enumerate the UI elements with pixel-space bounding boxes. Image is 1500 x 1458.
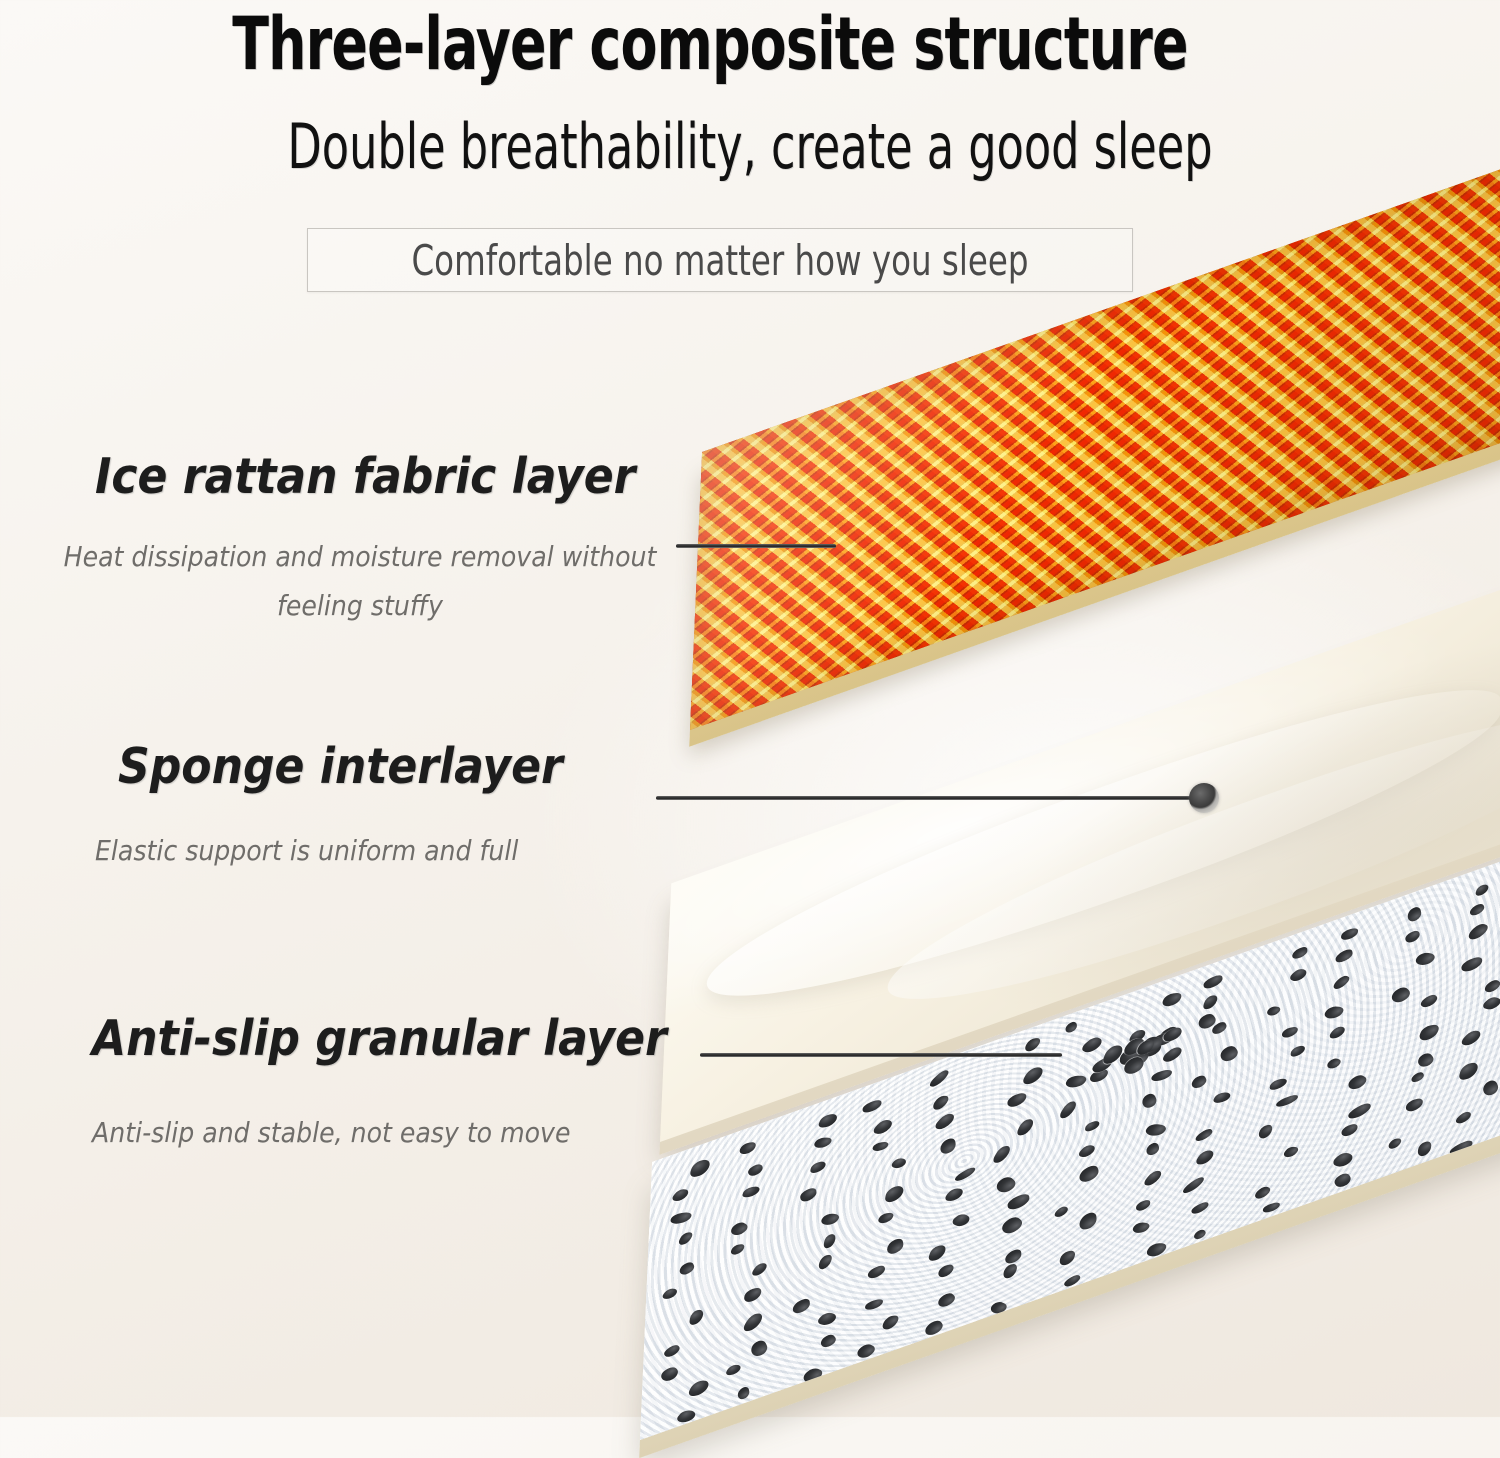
granule — [1468, 902, 1486, 918]
granule — [1008, 1091, 1027, 1109]
granule — [689, 1158, 712, 1178]
granule — [1389, 985, 1413, 1005]
granule — [1264, 1005, 1283, 1016]
granule — [1064, 1020, 1077, 1034]
granule — [738, 1141, 757, 1156]
exploded-layer-diagram — [0, 0, 1500, 1417]
granule — [800, 1186, 818, 1204]
leader-line-anti-slip-granular — [700, 1053, 1062, 1057]
layer-description-ice-rattan-fabric: Heat dissipation and moisture removal wi… — [60, 532, 660, 630]
granule — [1340, 926, 1359, 941]
granule — [1410, 1070, 1426, 1084]
granule — [816, 1254, 833, 1271]
granule — [1020, 1067, 1046, 1084]
granule — [954, 1166, 977, 1184]
granule — [1269, 1077, 1287, 1091]
layer-title-ice-rattan-fabric: Ice rattan fabric layer — [95, 448, 635, 505]
granule — [1079, 1211, 1097, 1233]
granule — [1135, 1199, 1149, 1213]
granule — [1290, 1045, 1305, 1059]
granule — [933, 1113, 959, 1131]
granule — [942, 1188, 965, 1201]
granule — [677, 1232, 695, 1245]
granule — [871, 1119, 896, 1136]
granule — [1281, 1025, 1299, 1038]
granule — [936, 1264, 955, 1279]
granule — [1405, 929, 1421, 945]
granule — [689, 1308, 705, 1326]
granule — [1002, 1262, 1018, 1279]
granule — [1412, 952, 1438, 967]
granule — [1347, 1101, 1373, 1121]
granule — [1417, 1140, 1432, 1158]
granule — [1076, 1144, 1098, 1158]
granule — [792, 1297, 810, 1316]
granule — [668, 1212, 693, 1226]
granule — [871, 1142, 890, 1152]
granule — [678, 1261, 696, 1277]
tagline-text: Comfortable no matter how you sleep — [366, 229, 1075, 291]
granule — [1475, 883, 1490, 896]
leader-line-sponge-interlayer — [656, 796, 1202, 800]
granule — [993, 1174, 1019, 1195]
granule — [1252, 1185, 1273, 1200]
granule — [1007, 1191, 1030, 1212]
granule — [741, 1313, 765, 1331]
granule — [1142, 1123, 1168, 1136]
granule — [927, 1244, 947, 1262]
granule — [1211, 1092, 1232, 1103]
granule — [1181, 1175, 1207, 1195]
granule — [1058, 1101, 1079, 1118]
granule — [1077, 1164, 1099, 1186]
granule — [750, 1263, 769, 1275]
granule — [1332, 1171, 1353, 1189]
layer-description-sponge-interlayer: Elastic support is uniform and full — [60, 826, 655, 875]
granule — [867, 1264, 886, 1281]
granule — [1145, 1141, 1160, 1157]
granule — [1193, 1127, 1213, 1143]
tagline-box: Comfortable no matter how you sleep — [307, 228, 1133, 292]
granule — [1459, 1029, 1484, 1046]
granule — [999, 1215, 1025, 1236]
granule — [863, 1098, 882, 1115]
granule — [1140, 1092, 1158, 1110]
layer-description-anti-slip-granular: Anti-slip and stable, not easy to move — [60, 1108, 712, 1157]
granule — [865, 1298, 885, 1312]
granule — [876, 1212, 895, 1224]
page-subtitle: Double breathability, create a good slee… — [150, 110, 1350, 183]
granule — [1328, 1026, 1348, 1038]
granule — [927, 1069, 951, 1088]
granule — [1258, 1123, 1273, 1140]
granule — [1341, 1122, 1357, 1138]
granule — [1405, 1097, 1424, 1113]
granule — [1416, 1051, 1437, 1069]
granule — [1151, 1068, 1173, 1083]
granule — [1085, 1120, 1100, 1133]
layer-title-anti-slip-granular: Anti-slip granular layer — [92, 1010, 667, 1067]
granule — [1282, 1146, 1301, 1157]
granule — [747, 1162, 764, 1178]
granule — [730, 1243, 747, 1255]
granule — [886, 1236, 904, 1256]
granule — [939, 1136, 956, 1156]
granule — [748, 1338, 768, 1358]
granule — [1190, 1074, 1208, 1091]
granule — [737, 1385, 751, 1401]
granule — [741, 1185, 761, 1198]
granule — [1331, 1151, 1357, 1168]
granule — [936, 1291, 958, 1309]
granule — [931, 1096, 951, 1110]
granule — [1453, 1110, 1474, 1125]
granule — [1053, 1205, 1071, 1217]
granule — [1217, 1044, 1240, 1064]
granule — [819, 1333, 838, 1350]
granule — [1194, 1150, 1217, 1164]
granule — [663, 1343, 682, 1359]
granule — [1276, 1093, 1298, 1109]
granule — [1330, 975, 1352, 991]
granule — [816, 1113, 838, 1128]
granule — [1344, 1073, 1369, 1091]
granule — [670, 1189, 692, 1202]
granule — [1386, 1138, 1403, 1149]
granule — [1407, 905, 1422, 923]
granule — [1262, 1201, 1280, 1214]
granule — [1191, 1200, 1210, 1216]
granule — [1419, 993, 1439, 1009]
leader-line-ice-rattan-fabric — [676, 544, 836, 548]
granule — [818, 1213, 841, 1225]
granule — [1162, 1025, 1183, 1044]
granule — [890, 1157, 910, 1169]
granule — [812, 1137, 834, 1147]
granule — [1482, 978, 1500, 994]
granule — [1159, 993, 1183, 1008]
granule — [884, 1184, 904, 1204]
granule — [823, 1232, 836, 1249]
granule — [1063, 1075, 1089, 1087]
granule — [1203, 973, 1224, 991]
layer-title-sponge-interlayer: Sponge interlayer — [118, 738, 563, 795]
granule — [743, 1287, 762, 1305]
granule — [1160, 1046, 1185, 1065]
granule — [1202, 994, 1219, 1010]
granule — [1335, 947, 1354, 964]
granule — [1292, 945, 1308, 961]
granule — [991, 1145, 1012, 1162]
granule — [660, 1365, 681, 1384]
granule — [810, 1160, 827, 1175]
granule — [1417, 1024, 1441, 1041]
granule — [1015, 1118, 1035, 1136]
granule — [1022, 1038, 1042, 1052]
page-title: Three-layer composite structure — [128, 2, 1292, 87]
granule — [1059, 1249, 1077, 1267]
granule — [1324, 1057, 1343, 1070]
granule — [1079, 1036, 1105, 1055]
granule — [880, 1315, 901, 1330]
granule — [660, 1288, 679, 1299]
granule — [686, 1380, 711, 1397]
granule — [1288, 968, 1310, 983]
granule — [815, 1311, 839, 1326]
granule — [1458, 1061, 1479, 1081]
granule — [1461, 955, 1482, 974]
granule — [1191, 1228, 1207, 1241]
granule — [725, 1364, 743, 1375]
granule — [1480, 996, 1500, 1011]
granule — [728, 1221, 751, 1237]
granule — [1130, 1222, 1152, 1234]
granule — [1142, 1171, 1164, 1187]
granule — [950, 1213, 972, 1228]
leader-dot-sponge-interlayer — [1189, 783, 1219, 813]
granule — [1480, 1079, 1499, 1099]
granule — [1465, 923, 1491, 942]
granule — [1322, 1006, 1346, 1019]
